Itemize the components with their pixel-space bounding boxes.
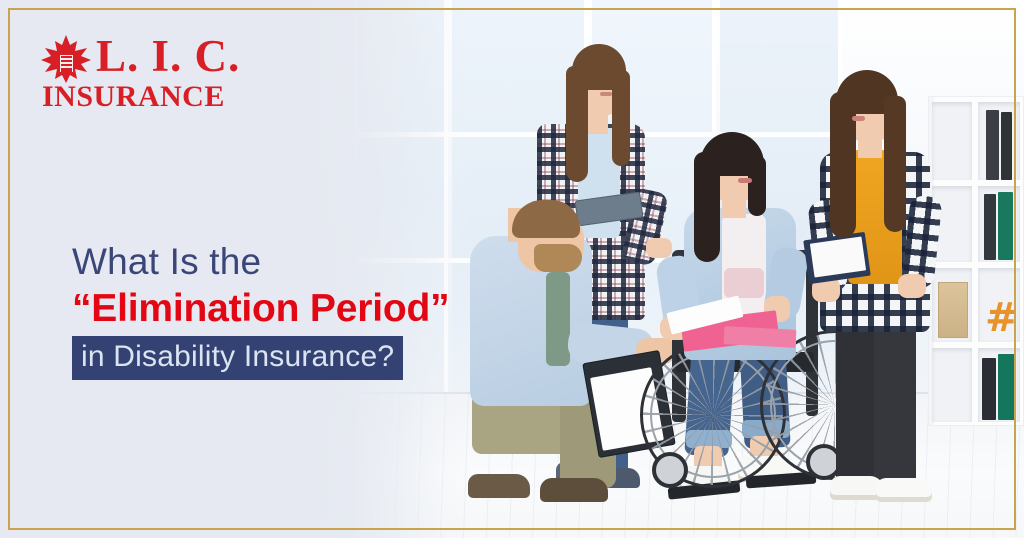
headline-line-1: What Is the bbox=[72, 240, 472, 284]
shelf-cell bbox=[978, 348, 1020, 422]
shelf-cell bbox=[978, 186, 1020, 262]
shelf-cell bbox=[932, 348, 972, 422]
headline-block: What Is the “Elimination Period” in Disa… bbox=[72, 240, 472, 380]
shelf-cell bbox=[932, 102, 972, 180]
hash-ornament: # bbox=[985, 298, 1019, 338]
logo-secondary-text: INSURANCE bbox=[42, 80, 225, 114]
banner-root: # bbox=[0, 0, 1024, 538]
green-binder bbox=[998, 192, 1013, 260]
shelving-unit: # bbox=[928, 96, 1024, 426]
book-pages bbox=[810, 237, 866, 278]
shelf-cell bbox=[932, 268, 972, 342]
kraft-box bbox=[938, 282, 968, 338]
headline-line-3: in Disability Insurance? bbox=[72, 336, 403, 380]
headline-line-2: “Elimination Period” bbox=[72, 286, 472, 332]
green-binder bbox=[998, 354, 1016, 420]
brand-logo[interactable]: L. I. C. INSURANCE bbox=[40, 30, 240, 110]
maple-leaf-icon bbox=[40, 34, 92, 84]
black-binder bbox=[986, 110, 999, 180]
shelf-cell: # bbox=[978, 268, 1020, 342]
black-binder bbox=[982, 358, 996, 420]
black-binder bbox=[984, 194, 996, 260]
black-binder bbox=[1001, 112, 1012, 180]
headline-line-3-wrapper: in Disability Insurance? bbox=[72, 336, 403, 380]
shelf-cell bbox=[978, 102, 1020, 180]
pink-documents bbox=[724, 326, 797, 348]
logo-primary-text: L. I. C. bbox=[96, 30, 240, 82]
